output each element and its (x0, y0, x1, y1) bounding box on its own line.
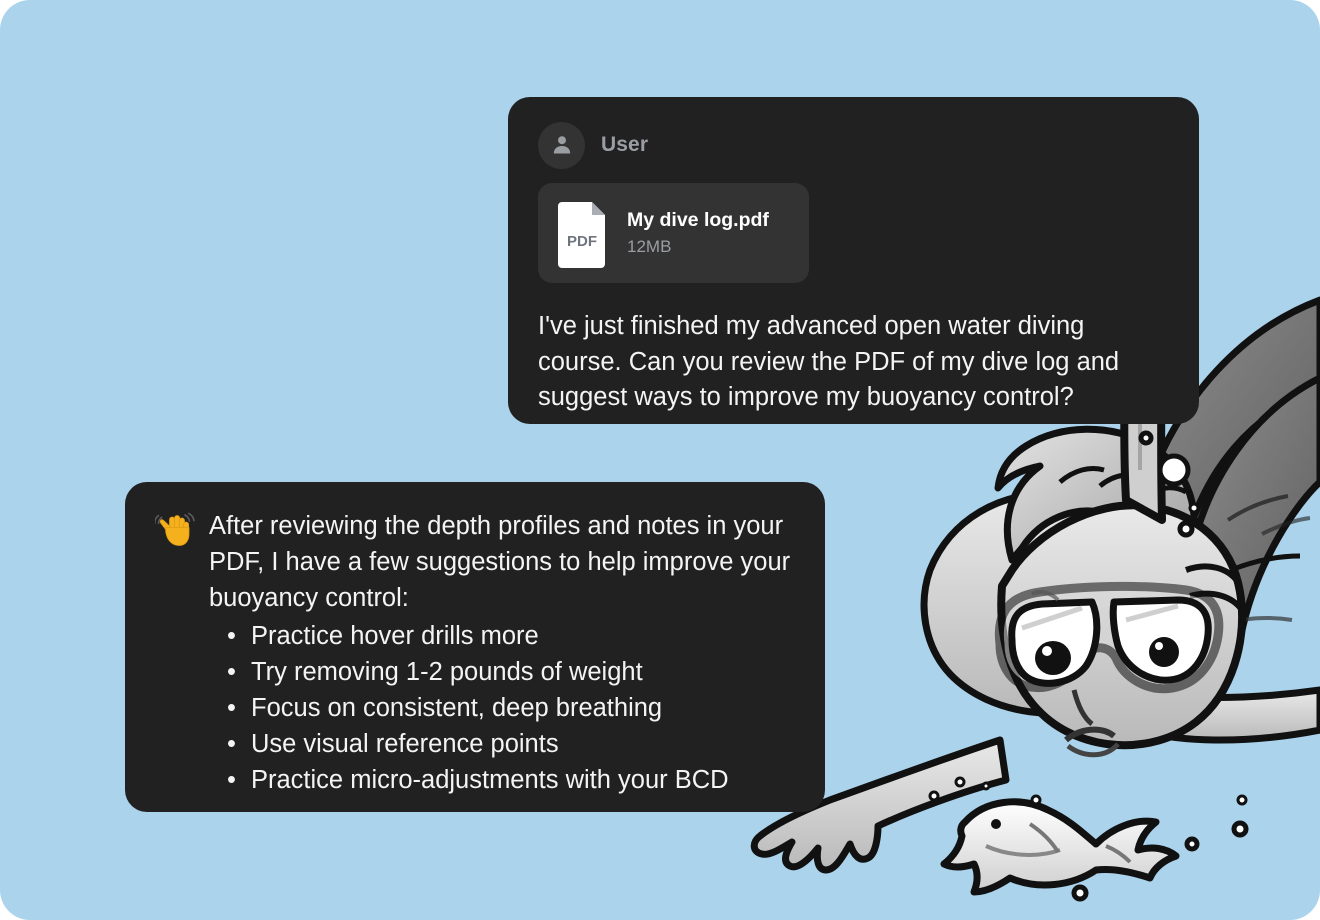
person-avatar-icon (538, 122, 585, 169)
list-item: Practice hover drills more (247, 618, 795, 654)
list-item: Focus on consistent, deep breathing (247, 690, 795, 726)
assistant-message-bubble: After reviewing the depth profiles and n… (125, 482, 825, 812)
chat-thread: User PDF My dive log.pdf 12MB I've just … (0, 0, 1320, 920)
user-message-header: User (538, 121, 1171, 169)
screenshot-canvas: User PDF My dive log.pdf 12MB I've just … (0, 0, 1320, 920)
user-message-bubble: User PDF My dive log.pdf 12MB I've just … (508, 97, 1199, 424)
svg-text:PDF: PDF (567, 233, 597, 250)
message-author-name: User (601, 133, 648, 157)
list-item: Practice micro-adjustments with your BCD (247, 762, 795, 798)
suggestion-list: Practice hover drills more Try removing … (209, 618, 795, 798)
attachment-chip[interactable]: PDF My dive log.pdf 12MB (538, 183, 809, 283)
user-message-text: I've just finished my advanced open wate… (538, 309, 1171, 416)
attachment-file-name: My dive log.pdf (627, 209, 769, 232)
list-item: Use visual reference points (247, 726, 795, 762)
attachment-file-size: 12MB (627, 237, 769, 257)
list-item: Try removing 1-2 pounds of weight (247, 654, 795, 690)
pdf-file-icon: PDF (556, 198, 611, 268)
waving-hand-emoji (155, 510, 195, 550)
attachment-meta: My dive log.pdf 12MB (627, 209, 769, 257)
assistant-intro-text: After reviewing the depth profiles and n… (209, 508, 795, 616)
